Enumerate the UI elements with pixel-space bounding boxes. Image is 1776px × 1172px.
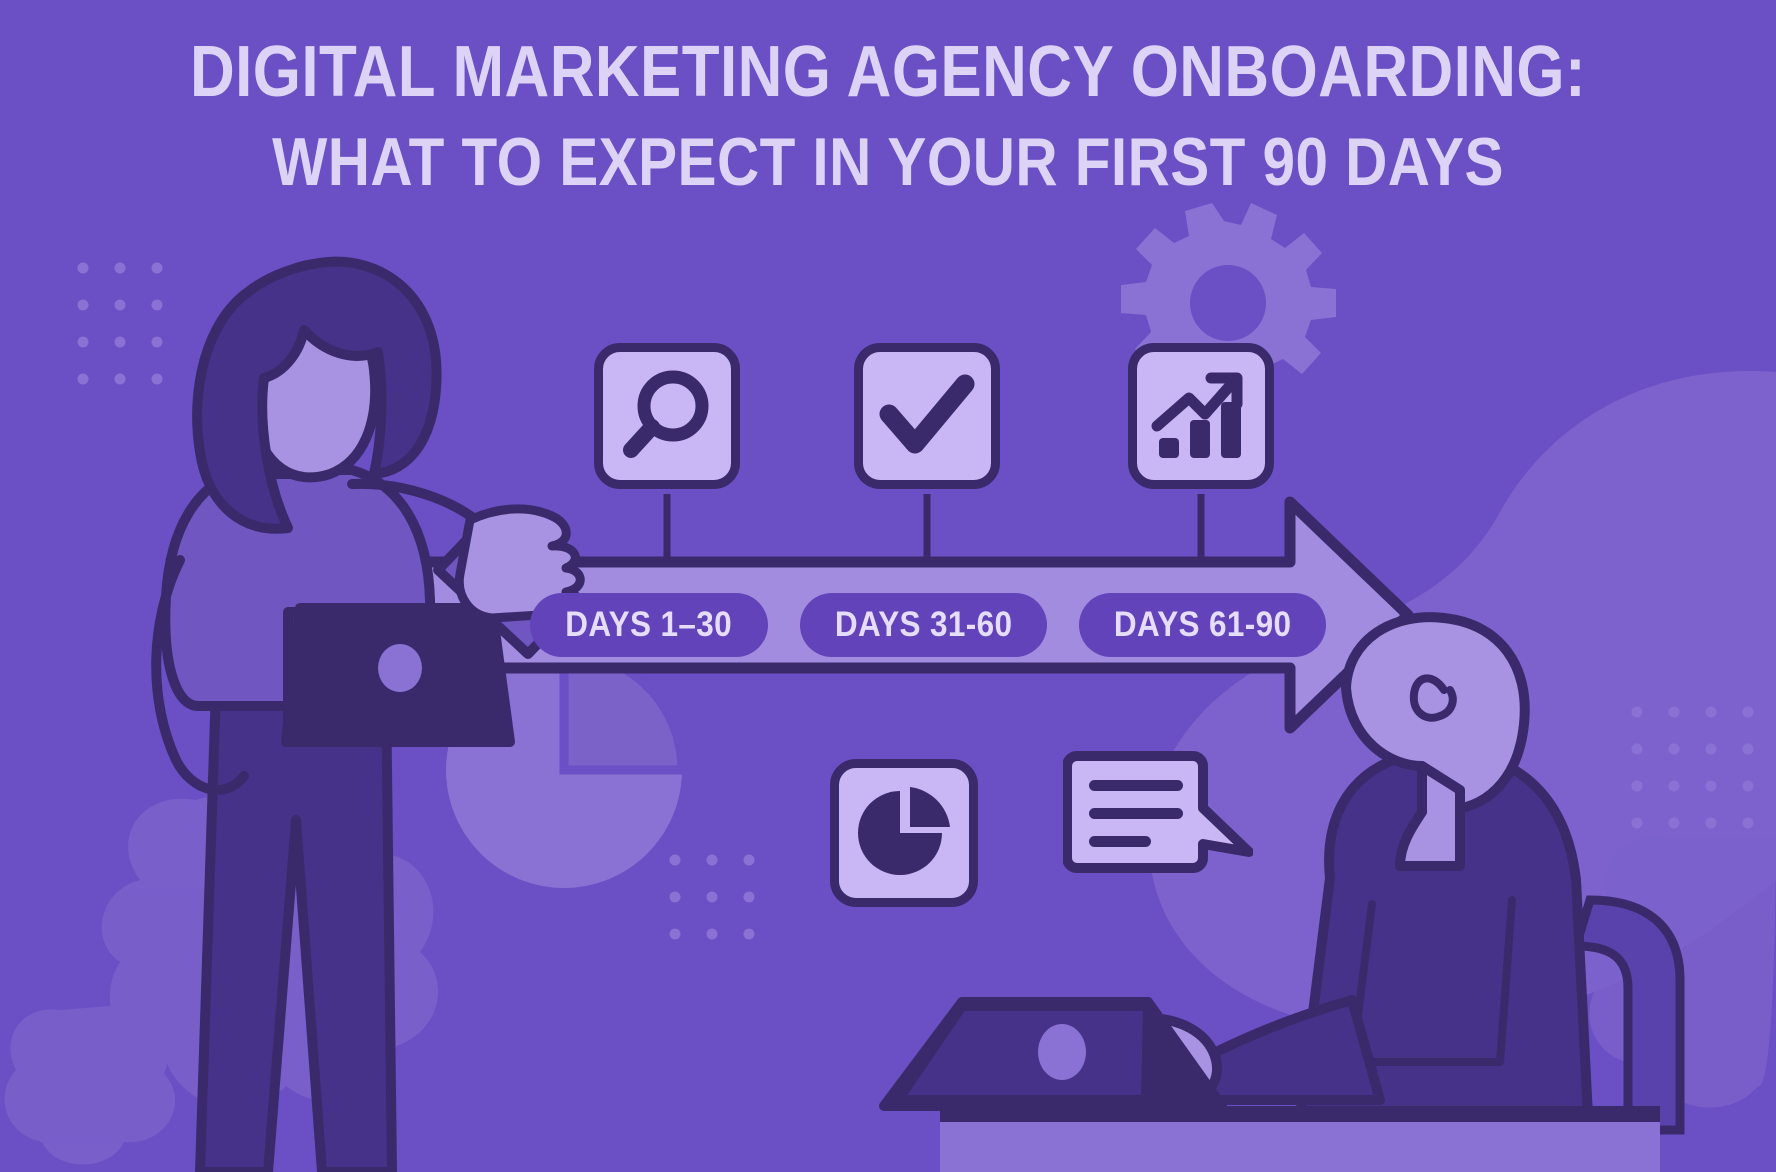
timeline-pill-phase-1[interactable]: DAYS 1–30 (530, 593, 768, 657)
timeline-pill-phase-2[interactable]: DAYS 31-60 (800, 593, 1047, 657)
desk (940, 1106, 1660, 1122)
timeline-phase-pills: DAYS 1–30 DAYS 31-60 DAYS 61-90 (530, 593, 1326, 657)
bubble-line-1 (1089, 780, 1183, 791)
magnifying-glass-icon (615, 364, 719, 468)
speech-bubble-icon (1063, 748, 1253, 890)
poster-canvas: DAYS 1–30 DAYS 31-60 DAYS 61-90 DIGITAL … (0, 0, 1776, 1172)
pie-chart-icon (852, 781, 956, 885)
communication-speech-bubble[interactable] (1063, 748, 1253, 895)
timeline-pill-label: DAYS 1–30 (566, 605, 733, 645)
milestone-icon-card-phase-3[interactable] (1128, 343, 1274, 489)
timeline-pill-label: DAYS 31-60 (835, 605, 1013, 645)
reporting-icon-card[interactable] (830, 759, 978, 907)
growth-chart-icon (1149, 364, 1253, 468)
timeline-pill-phase-3[interactable]: DAYS 61-90 (1079, 593, 1326, 657)
milestone-icon-card-phase-1[interactable] (594, 343, 740, 489)
man-typing-illustration (0, 0, 1776, 1172)
timeline-pill-label: DAYS 61-90 (1114, 605, 1292, 645)
bubble-line-3 (1089, 836, 1151, 847)
checkmark-icon (875, 364, 979, 468)
milestone-icon-card-phase-2[interactable] (854, 343, 1000, 489)
bubble-line-2 (1089, 808, 1183, 819)
